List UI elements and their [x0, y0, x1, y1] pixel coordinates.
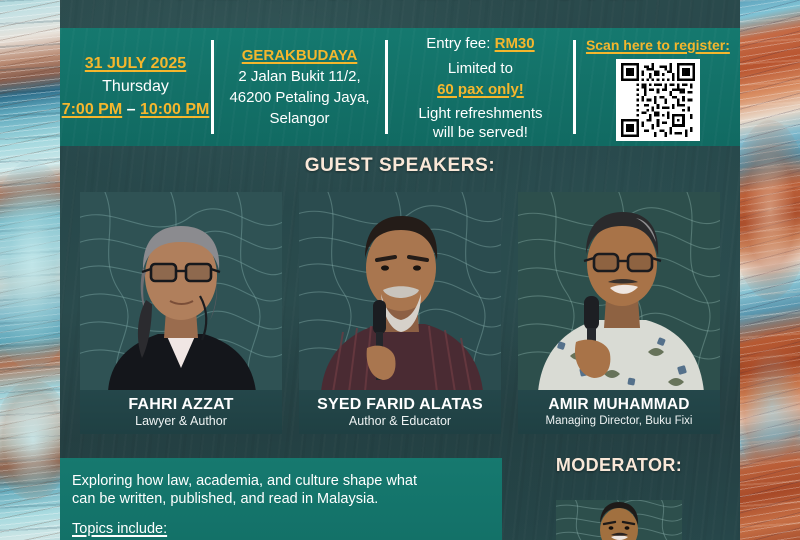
- venue-address-line-3: Selangor: [270, 108, 330, 129]
- guest-speakers-heading: GUEST SPEAKERS:: [60, 155, 740, 177]
- info-cell-qr: Scan here to register:: [576, 28, 740, 146]
- speaker-card: SYED FARID ALATAS Author & Educator: [299, 192, 501, 434]
- entry-fee-amount: RM30: [495, 35, 535, 52]
- moderator-photo: [556, 500, 682, 540]
- speaker-card: FAHRI AZZAT Lawyer & Author: [80, 192, 282, 434]
- event-weekday: Thursday: [102, 75, 169, 98]
- speaker-nameplate: AMIR MUHAMMAD Managing Director, Buku Fi…: [518, 390, 720, 434]
- description-line-1: Exploring how law, academia, and culture…: [72, 472, 490, 490]
- venue-address-line-1: 2 Jalan Bukit 11/2,: [238, 66, 360, 87]
- info-divider-1: [211, 40, 214, 134]
- poster-title-text: THE WRITTEN WORD: [60, 0, 740, 10]
- speaker-name: FAHRI AZZAT: [128, 395, 233, 414]
- left-marble-swirl: [0, 160, 60, 370]
- left-marble-border: [0, 0, 60, 540]
- speaker-role: Managing Director, Buku Fixi: [545, 414, 692, 429]
- speaker-photo: [518, 192, 720, 392]
- entry-fee-label: Entry fee:: [426, 35, 494, 52]
- speaker-card: AMIR MUHAMMAD Managing Director, Buku Fi…: [518, 192, 720, 434]
- qr-label: Scan here to register:: [586, 37, 730, 54]
- info-cell-venue: GERAKBUDAYA 2 Jalan Bukit 11/2, 46200 Pe…: [214, 28, 385, 146]
- qr-code-icon[interactable]: [616, 59, 700, 141]
- poster-title: THE WRITTEN WORD: [60, 0, 740, 14]
- event-info-bar: 31 JULY 2025 Thursday 7:00 PM – 10:00 PM…: [60, 28, 740, 146]
- event-time-start: 7:00 PM: [62, 101, 122, 118]
- info-divider-3: [573, 40, 576, 134]
- speaker-portrait: [80, 192, 282, 392]
- event-time-separator: –: [122, 101, 140, 118]
- refreshments-line-1: Light refreshments: [418, 104, 542, 123]
- event-time-end: 10:00 PM: [140, 101, 209, 118]
- right-marble-swirl: [740, 120, 800, 300]
- speaker-portrait: [299, 192, 501, 392]
- info-cell-fee: Entry fee: RM30 Limited to 60 pax only! …: [388, 28, 573, 146]
- info-divider-2: [385, 40, 388, 134]
- speaker-role: Lawyer & Author: [135, 414, 227, 429]
- speaker-photo: [299, 192, 501, 392]
- right-marble-border: [740, 0, 800, 540]
- info-cell-date: 31 JULY 2025 Thursday 7:00 PM – 10:00 PM: [60, 28, 211, 146]
- left-marble-swirl-lower: [0, 380, 60, 500]
- topics-label: Topics include:: [72, 520, 167, 538]
- refreshments-line-2: will be served!: [433, 123, 528, 142]
- speaker-photo: [80, 192, 282, 392]
- description-line-2: can be written, published, and read in M…: [72, 490, 490, 508]
- event-poster: THE WRITTEN WORD 31 JULY 2025 Thursday 7…: [0, 0, 800, 540]
- capacity-label: Limited to: [448, 58, 513, 79]
- speaker-role: Author & Educator: [349, 414, 451, 429]
- right-marble-swirl-lower: [740, 330, 800, 480]
- venue-name: GERAKBUDAYA: [242, 45, 358, 66]
- speaker-name: SYED FARID ALATAS: [317, 395, 483, 414]
- moderator-heading: MODERATOR:: [518, 455, 720, 476]
- speaker-name: AMIR MUHAMMAD: [548, 395, 689, 414]
- speaker-portrait: [518, 192, 720, 392]
- speaker-nameplate: FAHRI AZZAT Lawyer & Author: [80, 390, 282, 434]
- venue-address-line-2: 46200 Petaling Jaya,: [229, 87, 369, 108]
- capacity-amount: 60 pax only!: [437, 79, 524, 100]
- speaker-nameplate: SYED FARID ALATAS Author & Educator: [299, 390, 501, 434]
- event-date: 31 JULY 2025: [85, 53, 186, 75]
- description-panel: Exploring how law, academia, and culture…: [60, 458, 502, 540]
